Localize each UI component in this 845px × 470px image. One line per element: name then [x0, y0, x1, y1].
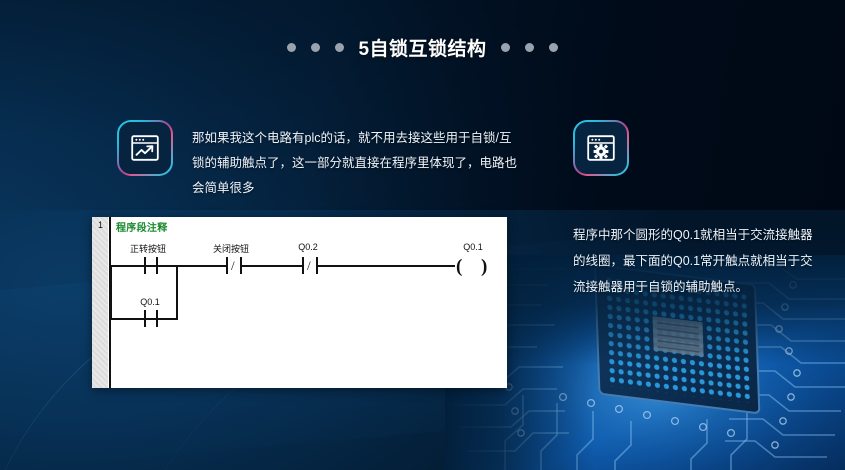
coil-right-paren: )	[481, 257, 487, 276]
rung1-wire-to-coil	[318, 265, 455, 267]
title-dots-left	[287, 43, 344, 52]
rung1-wire-seg	[242, 265, 302, 267]
network-number: 1	[94, 220, 107, 230]
contact-nc-bar-left	[226, 257, 228, 274]
title-dot-icon	[335, 43, 344, 52]
contact-nc-bar-left	[302, 257, 304, 274]
coil-left-paren: (	[456, 257, 462, 276]
rung1-wire-seg	[158, 265, 226, 267]
slide-title-bar: 5自锁互锁结构	[0, 34, 845, 61]
rung1-wire-seg	[110, 265, 144, 267]
branch-vertical-left	[110, 265, 112, 320]
left-icon-tile	[117, 120, 173, 176]
right-icon-tile	[573, 120, 629, 176]
rung1-wire-seg	[146, 265, 156, 267]
network-comment: 程序段注释	[116, 219, 168, 234]
title-dot-icon	[311, 43, 320, 52]
branch-contact-label-q01: Q0.1	[114, 297, 186, 307]
contact-label-q02: Q0.2	[272, 242, 344, 252]
branch-wire-seg	[158, 318, 178, 320]
contact-nc-slash: /	[231, 259, 235, 272]
contact-label-forward-button: 正转按钮	[112, 242, 184, 255]
slide-canvas: 5自锁互锁结构	[0, 0, 845, 470]
page-title: 5自锁互锁结构	[344, 34, 500, 61]
branch-wire-seg	[110, 318, 144, 320]
window-chart-icon	[130, 134, 160, 162]
title-dot-icon	[287, 43, 296, 52]
coil-label-q01: Q0.1	[437, 242, 509, 252]
title-dot-icon	[549, 43, 558, 52]
window-gear-icon	[586, 134, 616, 162]
title-dot-icon	[501, 43, 510, 52]
right-paragraph: 程序中那个圆形的Q0.1就相当于交流接触器的线圈，最下面的Q0.1常开触点就相当…	[573, 222, 823, 300]
contact-label-stop-button: 关闭按钮	[195, 242, 267, 255]
right-icon-inner	[575, 122, 627, 174]
branch-vertical-right	[176, 265, 178, 320]
title-dots-right	[501, 43, 558, 52]
left-paragraph: 那如果我这个电路有plc的话，就不用去接这些用于自锁/互锁的辅助触点了，这一部分…	[192, 126, 522, 201]
branch-wire-seg	[146, 318, 156, 320]
left-icon-inner	[119, 122, 171, 174]
ladder-diagram-panel: 1 程序段注释 正转按钮 关闭按钮 Q0.2 Q0.1 / / ( ) Q0.1	[92, 217, 507, 388]
title-dot-icon	[525, 43, 534, 52]
contact-nc-slash: /	[307, 259, 311, 272]
ladder-gutter	[92, 217, 108, 388]
